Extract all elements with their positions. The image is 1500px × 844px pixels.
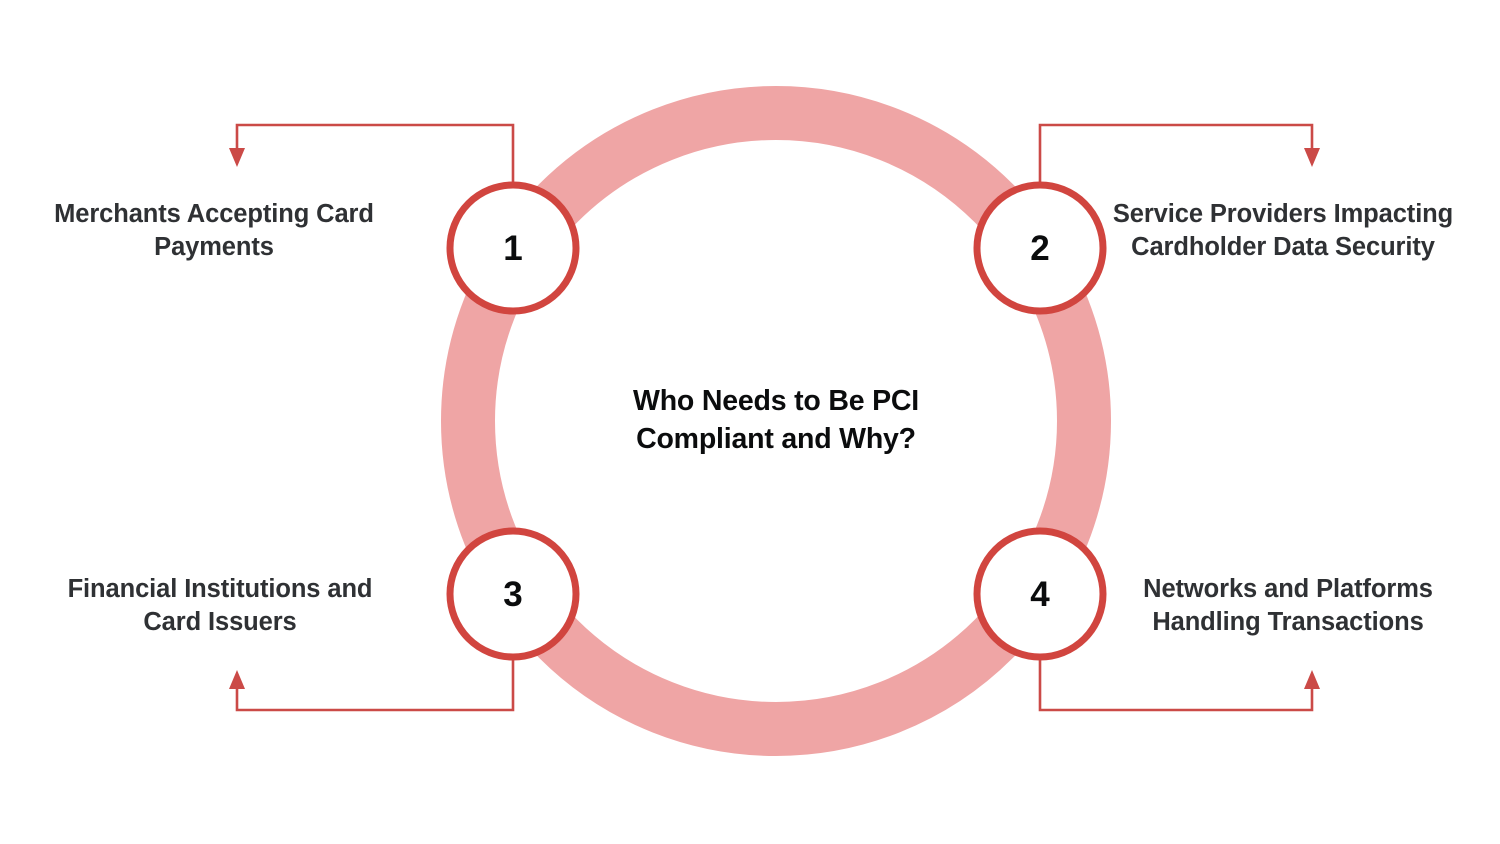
- node-label-1-line-1: Merchants Accepting Card: [4, 198, 424, 231]
- node-label-4-line-2: Handling Transactions: [1078, 606, 1498, 639]
- node-label-3-line-2: Card Issuers: [10, 606, 430, 639]
- node-label-4-line-1: Networks and Platforms: [1078, 573, 1498, 606]
- connector-node-3: [229, 645, 513, 710]
- diagram-canvas: 1 2 3 4 Who Needs to Be PCI Compliant an…: [0, 0, 1500, 844]
- node-label-1-line-2: Payments: [4, 231, 424, 264]
- center-title-line-1: Who Needs to Be PCI: [566, 383, 986, 421]
- node-number-3: 3: [443, 577, 583, 612]
- center-title-line-2: Compliant and Why?: [566, 421, 986, 459]
- node-label-3-line-1: Financial Institutions and: [10, 573, 430, 606]
- node-label-1: Merchants Accepting Card Payments: [4, 198, 424, 263]
- connector-node-2: [1040, 125, 1320, 198]
- connector-node-1: [229, 125, 513, 198]
- node-label-3: Financial Institutions and Card Issuers: [10, 573, 430, 638]
- diagram-center-title: Who Needs to Be PCI Compliant and Why?: [566, 383, 986, 459]
- node-label-2: Service Providers Impacting Cardholder D…: [1073, 198, 1493, 263]
- node-label-2-line-2: Cardholder Data Security: [1073, 231, 1493, 264]
- node-label-2-line-1: Service Providers Impacting: [1073, 198, 1493, 231]
- node-label-4: Networks and Platforms Handling Transact…: [1078, 573, 1498, 638]
- connector-node-4: [1040, 645, 1320, 710]
- node-number-1: 1: [443, 231, 583, 266]
